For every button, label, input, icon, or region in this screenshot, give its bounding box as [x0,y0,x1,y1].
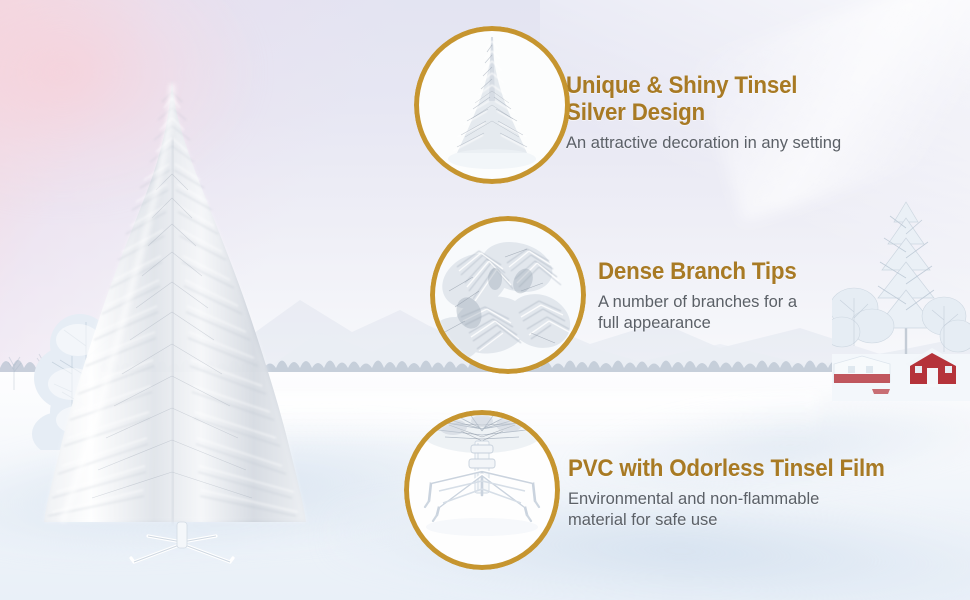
red-cabin [906,348,960,387]
small-red-sled [872,389,890,394]
product-feature-banner: Unique & Shiny Tinsel Silver Design An a… [0,0,970,600]
feature-heading: Dense Branch Tips [598,258,905,285]
callout-circle-tinsel-design [414,26,570,184]
feature-block-pvc-material: PVC with Odorless Tinsel Film Environmen… [568,455,928,531]
feature-body: An attractive decoration in any setting [566,133,916,154]
feature-body: Environmental and non-flammable material… [568,489,928,531]
feature-body: A number of branches for a full appearan… [598,292,928,334]
callout-gold-ring [414,26,570,184]
callout-circle-pvc-material [404,410,560,570]
main-tree-stand [118,520,246,566]
callout-gold-ring [430,216,586,374]
feature-heading: PVC with Odorless Tinsel Film [568,455,903,482]
feature-block-dense-branches: Dense Branch Tips A number of branches f… [598,258,928,334]
feature-heading: Unique & Shiny Tinsel Silver Design [566,72,892,126]
callout-gold-ring [404,410,560,570]
callout-circle-dense-branches [430,216,586,374]
feature-block-tinsel-design: Unique & Shiny Tinsel Silver Design An a… [566,72,916,154]
main-tinsel-tree [22,78,328,558]
